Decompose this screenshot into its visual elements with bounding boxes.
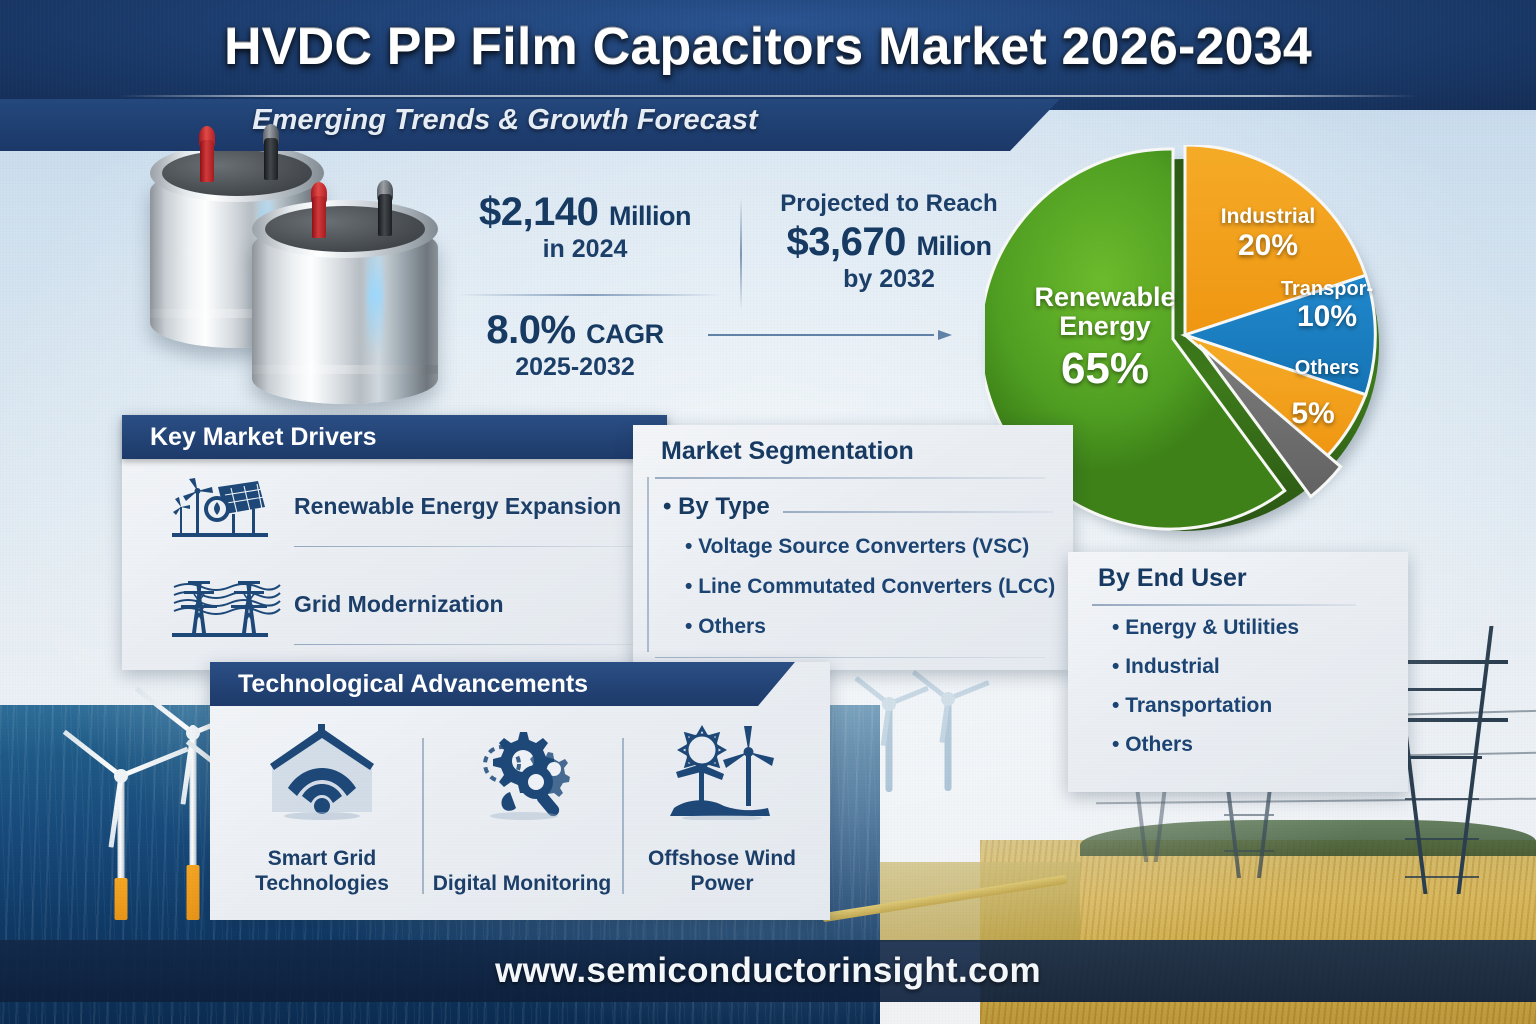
capacitor-terminal-red bbox=[196, 126, 218, 182]
key-market-drivers-panel: Key Market Drivers bbox=[122, 415, 667, 670]
current-year: in 2024 bbox=[440, 235, 730, 264]
tech-label: Smart Grid Technologies bbox=[224, 846, 420, 896]
bullet-icon: • bbox=[663, 493, 671, 520]
cagr-value: 8.0% bbox=[486, 308, 575, 352]
title-divider bbox=[118, 95, 1418, 97]
projected-label: Projected to Reach bbox=[758, 190, 1020, 218]
segmentation-group-by-type: • By Type bbox=[663, 493, 770, 521]
driver-underline bbox=[294, 546, 638, 548]
driver-item[interactable]: Grid Modernization bbox=[172, 575, 640, 645]
power-pylon-icon bbox=[172, 575, 282, 641]
pie-pct-industrial: 20% bbox=[1203, 229, 1333, 263]
page-title: HVDC PP Film Capacitors Market 2026-2034 bbox=[0, 16, 1536, 76]
bullet-icon: • bbox=[1112, 694, 1119, 717]
driver-underline bbox=[294, 644, 638, 646]
footer-bar: www.semiconductorinsight.com bbox=[0, 940, 1536, 1002]
segmentation-vertical-rule bbox=[647, 477, 649, 652]
pie-pct-transportation: 10% bbox=[1267, 300, 1387, 334]
cagr-unit: CAGR bbox=[586, 319, 664, 349]
pie-pct-others: 5% bbox=[1275, 397, 1351, 431]
technological-advancements-panel: Technological Advancements Smart Grid bbox=[210, 662, 830, 920]
tech-item-offshore-wind[interactable]: Offshose Wind Power bbox=[624, 718, 820, 914]
driver-label: Renewable Energy Expansion bbox=[294, 493, 621, 520]
capacitor-terminal-black bbox=[374, 180, 396, 236]
end-user-divider bbox=[1092, 604, 1356, 606]
pie-label-others: Others bbox=[1277, 357, 1377, 380]
key-statistics: $2,140 Million in 2024 Projected to Reac… bbox=[440, 190, 1020, 390]
capacitor-front bbox=[252, 192, 438, 404]
end-user-item[interactable]: • Others bbox=[1112, 733, 1193, 757]
wind-solar-icon bbox=[172, 477, 282, 543]
bullet-icon: • bbox=[685, 615, 692, 638]
infographic-canvas: HVDC PP Film Capacitors Market 2026-2034… bbox=[0, 0, 1536, 1024]
stat-vertical-divider bbox=[740, 198, 742, 310]
bullet-icon: • bbox=[1112, 616, 1119, 639]
segmentation-item[interactable]: • Others bbox=[685, 615, 766, 639]
page-subtitle: Emerging Trends & Growth Forecast bbox=[0, 104, 1010, 137]
background-turbine-icon bbox=[862, 700, 916, 792]
driver-item[interactable]: Renewable Energy Expansion bbox=[172, 477, 640, 547]
pie-label-renewable: Renewable Energy 65% bbox=[1015, 283, 1195, 393]
tech-label: Digital Monitoring bbox=[424, 871, 620, 896]
tech-label: Offshose Wind Power bbox=[624, 846, 820, 896]
segmentation-divider bbox=[655, 477, 1045, 479]
sun-wind-turbine-icon bbox=[666, 724, 778, 820]
pie-label-transportation: Transpor- 10% bbox=[1267, 278, 1387, 334]
bullet-icon: • bbox=[685, 535, 692, 558]
pie-label-industrial: Industrial 20% bbox=[1203, 205, 1333, 262]
tech-item-digital-monitoring[interactable]: Digital Monitoring bbox=[424, 718, 620, 914]
gear-magnifier-icon bbox=[466, 724, 578, 820]
key-market-drivers-title: Key Market Drivers bbox=[122, 415, 667, 459]
by-end-user-panel: By End User • Energy & Utilities • Indus… bbox=[1068, 552, 1408, 792]
stat-projected-value: Projected to Reach $3,670 Milion by 2032 bbox=[758, 190, 1020, 294]
projected-unit: Milion bbox=[916, 231, 991, 261]
by-end-user-title: By End User bbox=[1098, 564, 1247, 593]
end-user-item[interactable]: • Industrial bbox=[1112, 655, 1220, 679]
technological-advancements-title: Technological Advancements bbox=[210, 662, 795, 706]
capacitor-terminal-red bbox=[308, 182, 330, 238]
tech-item-smart-grid[interactable]: Smart Grid Technologies bbox=[224, 718, 420, 914]
bullet-icon: • bbox=[1112, 733, 1119, 756]
end-user-item[interactable]: • Energy & Utilities bbox=[1112, 616, 1299, 640]
stat-current-value: $2,140 Million in 2024 bbox=[440, 190, 730, 264]
cagr-period: 2025-2032 bbox=[450, 353, 700, 382]
bullet-icon: • bbox=[685, 575, 692, 598]
end-user-item[interactable]: • Transportation bbox=[1112, 694, 1272, 718]
projected-value: $3,670 bbox=[787, 220, 906, 264]
growth-arrow-icon bbox=[708, 330, 952, 340]
driver-label: Grid Modernization bbox=[294, 591, 504, 618]
capacitor-product-image bbox=[130, 118, 450, 408]
segmentation-item[interactable]: • Voltage Source Converters (VSC) bbox=[685, 535, 1029, 559]
projected-year: by 2032 bbox=[758, 265, 1020, 294]
capacitor-terminal-black bbox=[260, 124, 282, 180]
stat-horizontal-divider bbox=[458, 294, 722, 296]
offshore-turbine-icon bbox=[86, 770, 156, 920]
market-segmentation-title: Market Segmentation bbox=[661, 437, 914, 466]
bullet-icon: • bbox=[1112, 655, 1119, 678]
background-turbine-icon bbox=[920, 695, 976, 791]
pie-pct-renewable: 65% bbox=[1015, 345, 1195, 393]
smart-home-wifi-icon bbox=[266, 724, 378, 820]
website-url[interactable]: www.semiconductorinsight.com bbox=[495, 951, 1041, 991]
stat-cagr: 8.0% CAGR 2025-2032 bbox=[450, 308, 700, 382]
transmission-pylon bbox=[1396, 626, 1488, 894]
segmentation-item[interactable]: • Line Commutated Converters (LCC) bbox=[685, 575, 1055, 599]
current-unit: Million bbox=[609, 201, 691, 231]
segmentation-bottom-divider bbox=[655, 657, 1045, 659]
market-segmentation-panel: Market Segmentation • By Type • Voltage … bbox=[633, 425, 1073, 670]
current-value: $2,140 bbox=[479, 190, 598, 234]
